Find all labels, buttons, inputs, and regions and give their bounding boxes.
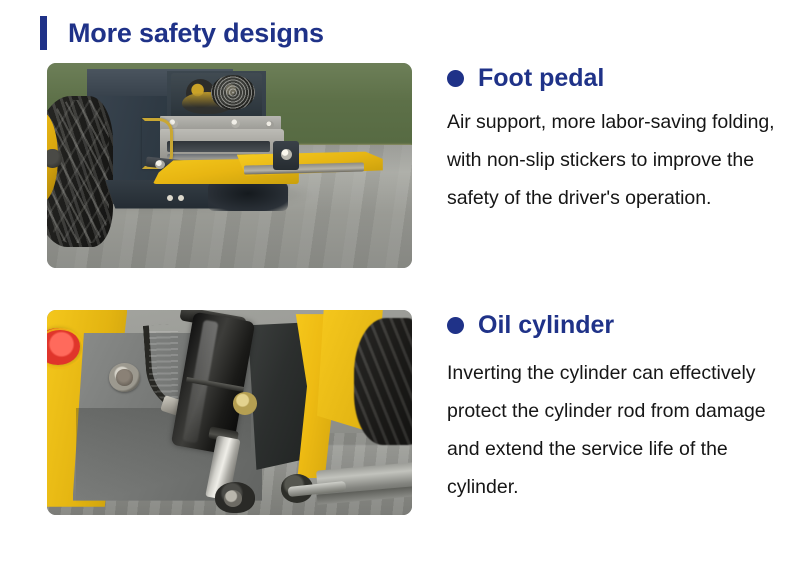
feature-body-text: Air support, more labor-saving folding, …	[447, 103, 780, 217]
accent-bar-icon	[40, 16, 47, 50]
feature-text-block: Foot pedal Air support, more labor-savin…	[447, 63, 780, 217]
filled-circle-bullet-icon	[447, 70, 464, 87]
photo-valve-slot	[167, 141, 269, 152]
feature-row: Oil cylinder Inverting the cylinder can …	[47, 310, 780, 515]
photo-underbody-shadow	[208, 182, 288, 211]
feature-heading: Foot pedal	[447, 66, 780, 91]
photo-dark-housing	[248, 322, 310, 470]
page-title: More safety designs	[68, 20, 324, 47]
feature-image-oil-cylinder	[47, 310, 412, 515]
photo-fan-mesh	[211, 75, 255, 110]
photo-hydraulic-port-inner	[116, 369, 132, 385]
photo-pedal-bracket-bolt	[281, 149, 292, 160]
photo-rear-tire	[354, 318, 412, 445]
photo-gold-pivot-pin	[233, 392, 257, 415]
feature-text-block: Oil cylinder Inverting the cylinder can …	[447, 310, 780, 506]
photo-rod-end-bolt	[224, 490, 242, 506]
feature-heading: Oil cylinder	[447, 313, 780, 338]
feature-row: Foot pedal Air support, more labor-savin…	[47, 63, 780, 268]
filled-circle-bullet-icon	[447, 317, 464, 334]
feature-body-text: Inverting the cylinder can effectively p…	[447, 354, 780, 506]
photo-wheel-hub	[47, 149, 62, 167]
page-heading: More safety designs	[40, 13, 324, 53]
feature-image-foot-pedal	[47, 63, 412, 268]
feature-heading-label: Foot pedal	[478, 66, 604, 91]
feature-heading-label: Oil cylinder	[478, 313, 614, 338]
